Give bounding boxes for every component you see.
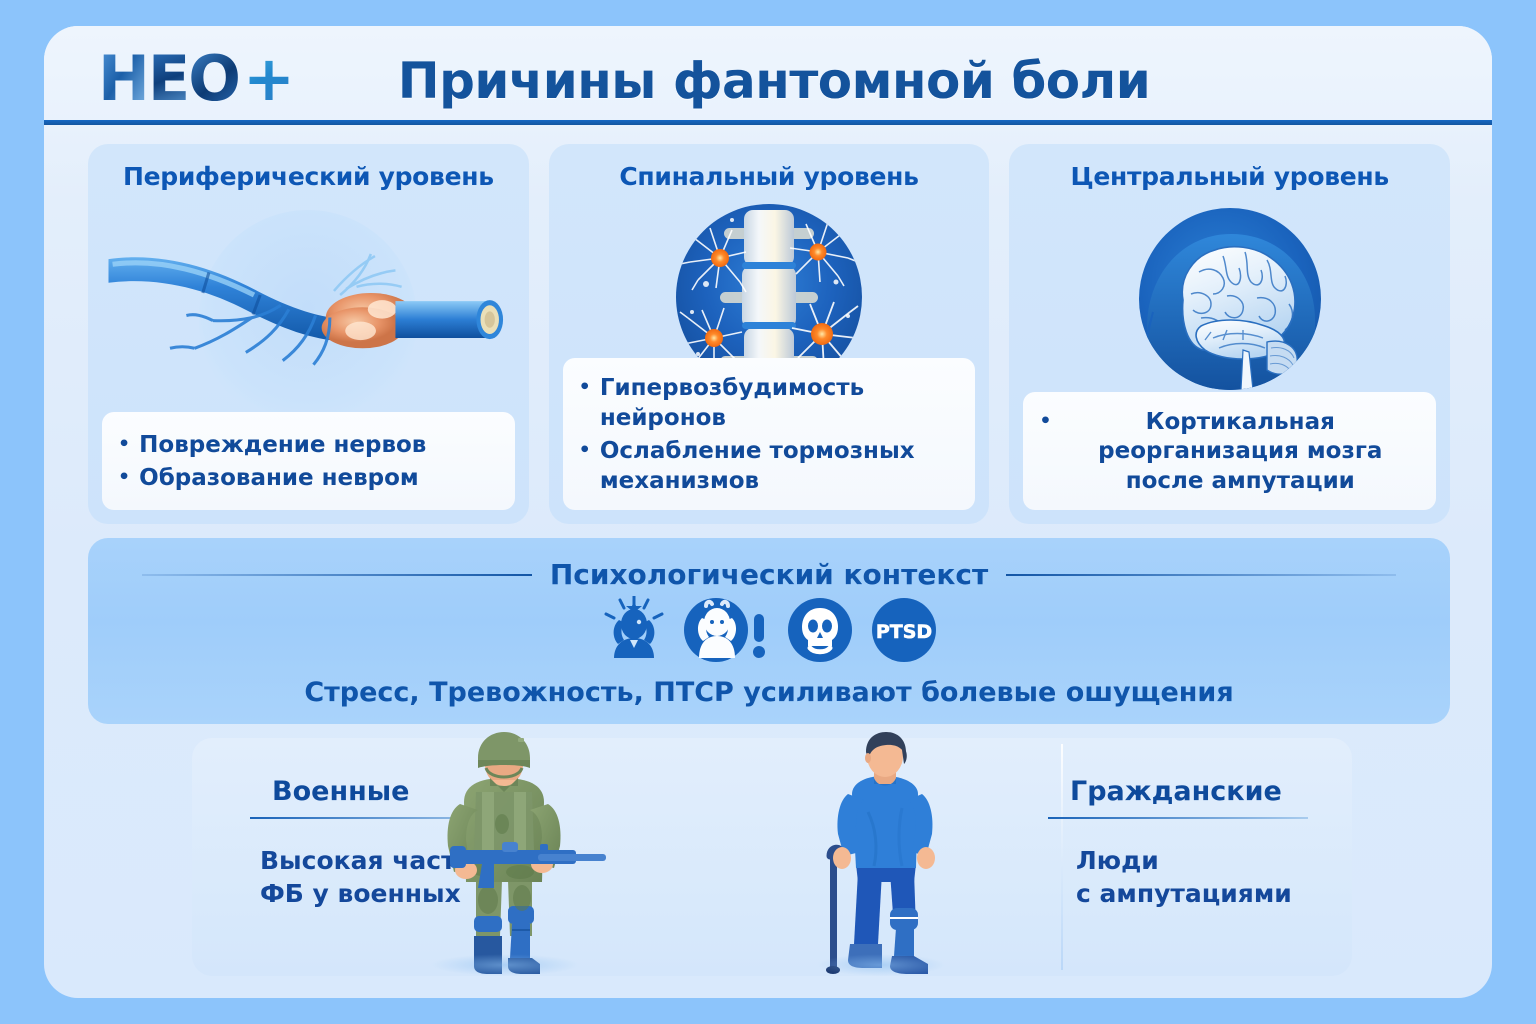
bullet-item: •Ослабление тормозных механизмов <box>579 435 960 498</box>
group-civilian-rule <box>1048 817 1308 819</box>
skull-icon <box>786 596 854 664</box>
bullet-text: Ослабление тормозных механизмов <box>600 437 960 496</box>
column-title-peripheral: Периферический уровень <box>88 162 529 191</box>
bullets-spinal: •Гипервозбудимость нейронов •Ослабление … <box>563 358 976 510</box>
bullets-peripheral: •Повреждение нервов •Образование невром <box>102 412 515 510</box>
psychological-context-title: Психологический контекст <box>550 558 988 591</box>
bullet-dot: • <box>579 437 591 464</box>
logo-plus-icon: + <box>243 48 293 110</box>
brand-logo: HEO+ <box>98 48 293 110</box>
stress-person-icon <box>600 596 668 664</box>
bullet-item: •Образование невром <box>118 462 499 495</box>
column-peripheral: Периферический уровень <box>88 144 529 524</box>
anxiety-person-icon <box>684 596 770 664</box>
bullet-dot: • <box>118 464 130 491</box>
brain-icon <box>1009 202 1450 388</box>
levels-columns: Периферический уровень <box>88 144 1450 524</box>
infographic-poster: HEO+ Причины фантомной боли Периферическ… <box>44 26 1492 998</box>
page-title: Причины фантомной боли <box>394 52 1154 110</box>
group-civilian-title: Гражданские <box>1070 776 1308 807</box>
bullets-central: •Кортикальная реорганизация мозга после … <box>1023 392 1436 510</box>
logo-letter-e: E <box>148 48 188 110</box>
psychological-context-panel: Психологический контекст <box>88 538 1450 724</box>
bullet-item: •Гипервозбудимость нейронов <box>579 372 960 435</box>
bullet-item: •Кортикальная реорганизация мозга после … <box>1039 406 1420 498</box>
column-central: Центральный уровень <box>1009 144 1450 524</box>
group-civilian-desc-line1: Люди <box>1076 845 1308 878</box>
logo-letter-n: H <box>98 48 148 110</box>
bullet-dot: • <box>579 374 591 401</box>
bullet-text: Образование невром <box>139 464 419 493</box>
damaged-nerve-icon <box>88 202 529 388</box>
psychological-icon-row: PTSD <box>88 596 1450 664</box>
column-title-spinal: Спинальный уровень <box>549 162 990 191</box>
psychological-context-header: Психологический контекст <box>88 558 1450 591</box>
bullet-text: Кортикальная реорганизация мозга после а… <box>1061 408 1421 496</box>
group-civilian-text: Гражданские Люди с ампутациями <box>1048 776 1308 910</box>
bullet-text: Гипервозбудимость нейронов <box>600 374 960 433</box>
population-groups: Военные Высокая частота ФБ у военных <box>192 738 1352 976</box>
soldier-figure-icon <box>390 730 620 980</box>
bullet-item: •Повреждение нервов <box>118 429 499 462</box>
ptsd-label: PTSD <box>876 621 932 643</box>
group-civilian-description: Люди с ампутациями <box>1076 845 1308 910</box>
psychological-context-caption: Стресс, Тревожность, ПТСР усиливают боле… <box>88 677 1450 708</box>
header-divider <box>44 120 1492 125</box>
logo-letter-o: O <box>188 48 239 110</box>
group-civilian-desc-line2: с ампутациями <box>1076 878 1308 911</box>
bullet-dot: • <box>1039 408 1051 435</box>
bullet-text: Повреждение нервов <box>139 431 426 460</box>
column-title-central: Центральный уровень <box>1009 162 1450 191</box>
header-rule-right <box>1006 574 1396 576</box>
group-civilian: Гражданские Люди с ампутациями <box>772 738 1352 976</box>
group-military: Военные Высокая частота ФБ у военных <box>192 738 772 976</box>
ptsd-badge-icon: PTSD <box>870 596 938 664</box>
civilian-figure-icon <box>786 732 976 980</box>
poster-header: HEO+ Причины фантомной боли <box>44 26 1492 122</box>
header-rule-left <box>142 574 532 576</box>
column-spinal: Спинальный уровень <box>549 144 990 524</box>
bullet-dot: • <box>118 431 130 458</box>
